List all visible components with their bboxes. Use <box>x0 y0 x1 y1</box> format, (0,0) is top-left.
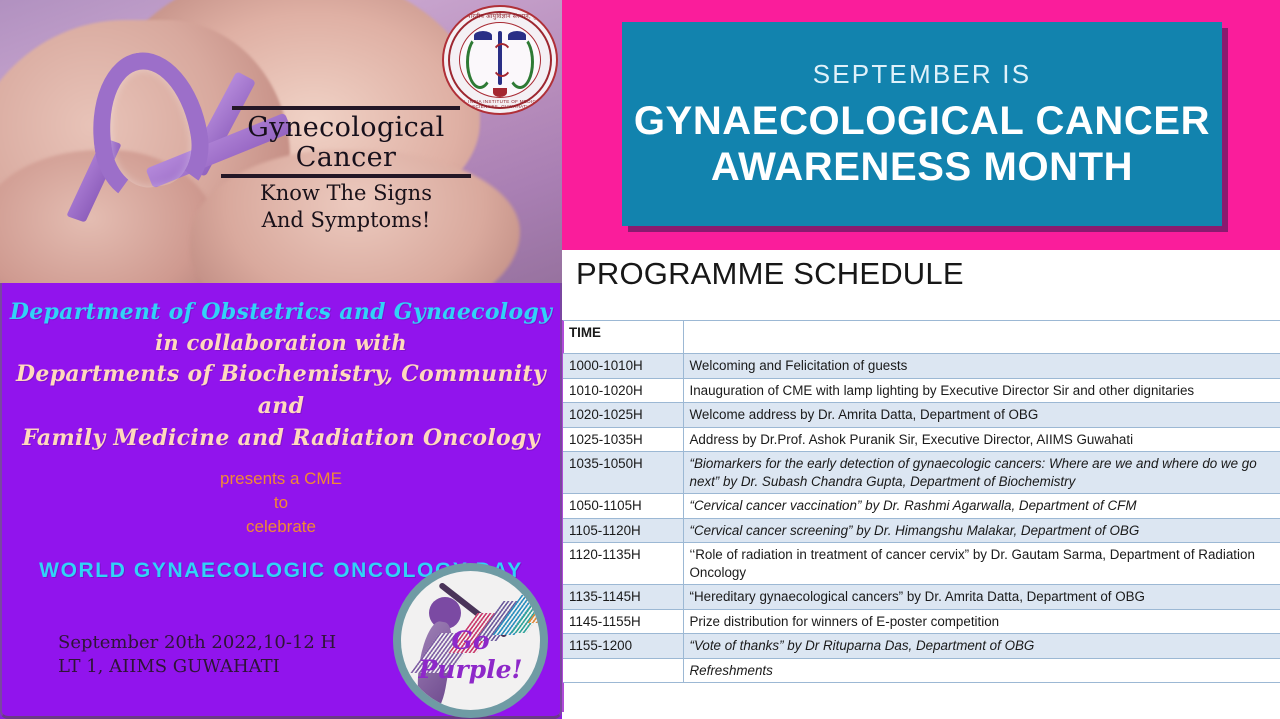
headline-rule-top <box>232 106 460 110</box>
schedule-activity-cell: Inauguration of CME with lamp lighting b… <box>683 378 1280 403</box>
schedule-time-cell: 1010-1020H <box>563 378 683 403</box>
schedule-time-cell: 1145-1155H <box>563 609 683 634</box>
table-row: 1020-1025HWelcome address by Dr. Amrita … <box>563 403 1280 428</box>
schedule-time-cell: 1025-1035H <box>563 427 683 452</box>
schedule-activity-cell: Welcome address by Dr. Amrita Datta, Dep… <box>683 403 1280 428</box>
presents-line-2: to <box>2 491 560 515</box>
schedule-activity-cell: ‘‘Role of radiation in treatment of canc… <box>683 543 1280 585</box>
schedule-activity-cell: Prize distribution for winners of E-post… <box>683 609 1280 634</box>
department-line: Department of Obstetrics and Gynaecology <box>2 283 560 327</box>
schedule-time-cell: 1035-1050H <box>563 452 683 494</box>
table-row: 1120-1135H‘‘Role of radiation in treatme… <box>563 543 1280 585</box>
schedule-time-cell: 1120-1135H <box>563 543 683 585</box>
poster-slide: Gynecological Cancer Know The Signs And … <box>0 0 1280 719</box>
aiims-logo-english-text: ALL INDIA INSTITUTE OF MEDICAL SCIENCES,… <box>444 99 556 109</box>
aiims-logo-icon: अखिल भारतीय आयुर्विज्ञान संस्थान, गुवाहा… <box>442 5 558 115</box>
awareness-banner-box: SEPTEMBER IS GYNAECOLOGICAL CANCER AWARE… <box>622 22 1222 226</box>
table-row: 1035-1050H“Biomarkers for the early dete… <box>563 452 1280 494</box>
schedule-activity-cell: “Hereditary gynaecological cancers” by D… <box>683 585 1280 610</box>
venue-date-time: September 20th 2022,10-12 H <box>58 631 336 655</box>
table-row: 1135-1145H“Hereditary gynaecological can… <box>563 585 1280 610</box>
table-row: 1050-1105H“Cervical cancer vaccination” … <box>563 494 1280 519</box>
banner-title-line-2: AWARENESS MONTH <box>711 144 1133 190</box>
poster-headline: Gynecological Cancer Know The Signs And … <box>196 106 496 232</box>
banner-title-line-1: GYNAECOLOGICAL CANCER <box>634 98 1210 144</box>
departments-line-1: Departments of Biochemistry, Community a… <box>2 358 560 422</box>
schedule-activity-cell: “Cervical cancer screening” by Dr. Himan… <box>683 518 1280 543</box>
event-poster: Gynecological Cancer Know The Signs And … <box>0 0 562 719</box>
schedule-time-cell: 1050-1105H <box>563 494 683 519</box>
schedule-time-cell: 1000-1010H <box>563 354 683 379</box>
programme-schedule-title: PROGRAMME SCHEDULE <box>576 256 964 292</box>
schedule-activity-cell: Address by Dr.Prof. Ashok Puranik Sir, E… <box>683 427 1280 452</box>
presents-block: presents a CME to celebrate <box>2 467 560 539</box>
poster-subline-2: And Symptoms! <box>196 209 496 232</box>
awareness-banner: SEPTEMBER IS GYNAECOLOGICAL CANCER AWARE… <box>562 0 1280 250</box>
table-header-row: TIME <box>563 321 1280 354</box>
headline-rule-bottom <box>221 174 471 178</box>
table-row: 1000-1010HWelcoming and Felicitation of … <box>563 354 1280 379</box>
table-row: 1010-1020HInauguration of CME with lamp … <box>563 378 1280 403</box>
table-row: Refreshments <box>563 658 1280 683</box>
schedule-activity-cell: Refreshments <box>683 658 1280 683</box>
schedule-activity-cell: “Vote of thanks” by Dr Rituparna Das, De… <box>683 634 1280 659</box>
go-purple-badge-icon: Go Purple! <box>393 563 548 718</box>
departments-line-2: Family Medicine and Radiation Oncology <box>2 422 560 454</box>
schedule-table-wrapper: TIME 1000-1010HWelcoming and Felicitatio… <box>563 320 1280 683</box>
presents-line-1: presents a CME <box>2 467 560 491</box>
schedule-time-cell: 1135-1145H <box>563 585 683 610</box>
schedule-activity-cell: Welcoming and Felicitation of guests <box>683 354 1280 379</box>
column-header-time: TIME <box>563 321 683 354</box>
go-purple-label: Go Purple! <box>401 626 540 684</box>
table-row: 1155-1200“Vote of thanks” by Dr Rituparn… <box>563 634 1280 659</box>
table-row: 1145-1155HPrize distribution for winners… <box>563 609 1280 634</box>
schedule-table: TIME 1000-1010HWelcoming and Felicitatio… <box>563 320 1280 683</box>
schedule-time-cell: 1155-1200 <box>563 634 683 659</box>
collaboration-line: in collaboration with <box>2 327 560 358</box>
schedule-time-cell <box>563 658 683 683</box>
poster-headline-line1: Gynecological <box>196 115 496 140</box>
table-row: 1105-1120H“Cervical cancer screening” by… <box>563 518 1280 543</box>
venue-block: September 20th 2022,10-12 H LT 1, AIIMS … <box>58 631 336 679</box>
column-header-activity <box>683 321 1280 354</box>
schedule-activity-cell: “Cervical cancer vaccination” by Dr. Ras… <box>683 494 1280 519</box>
schedule-table-body: 1000-1010HWelcoming and Felicitation of … <box>563 354 1280 683</box>
schedule-time-cell: 1105-1120H <box>563 518 683 543</box>
schedule-activity-cell: “Biomarkers for the early detection of g… <box>683 452 1280 494</box>
programme-panel: SEPTEMBER IS GYNAECOLOGICAL CANCER AWARE… <box>562 0 1280 719</box>
poster-subline-1: Know The Signs <box>196 182 496 205</box>
poster-headline-line2: Cancer <box>196 145 496 170</box>
aiims-logo-hindi-text: अखिल भारतीय आयुर्विज्ञान संस्थान, गुवाहा… <box>444 12 556 20</box>
schedule-time-cell: 1020-1025H <box>563 403 683 428</box>
table-row: 1025-1035HAddress by Dr.Prof. Ashok Pura… <box>563 427 1280 452</box>
banner-pre-title: SEPTEMBER IS <box>813 59 1032 90</box>
presents-line-3: celebrate <box>2 515 560 539</box>
venue-location: LT 1, AIIMS GUWAHATI <box>58 655 336 679</box>
